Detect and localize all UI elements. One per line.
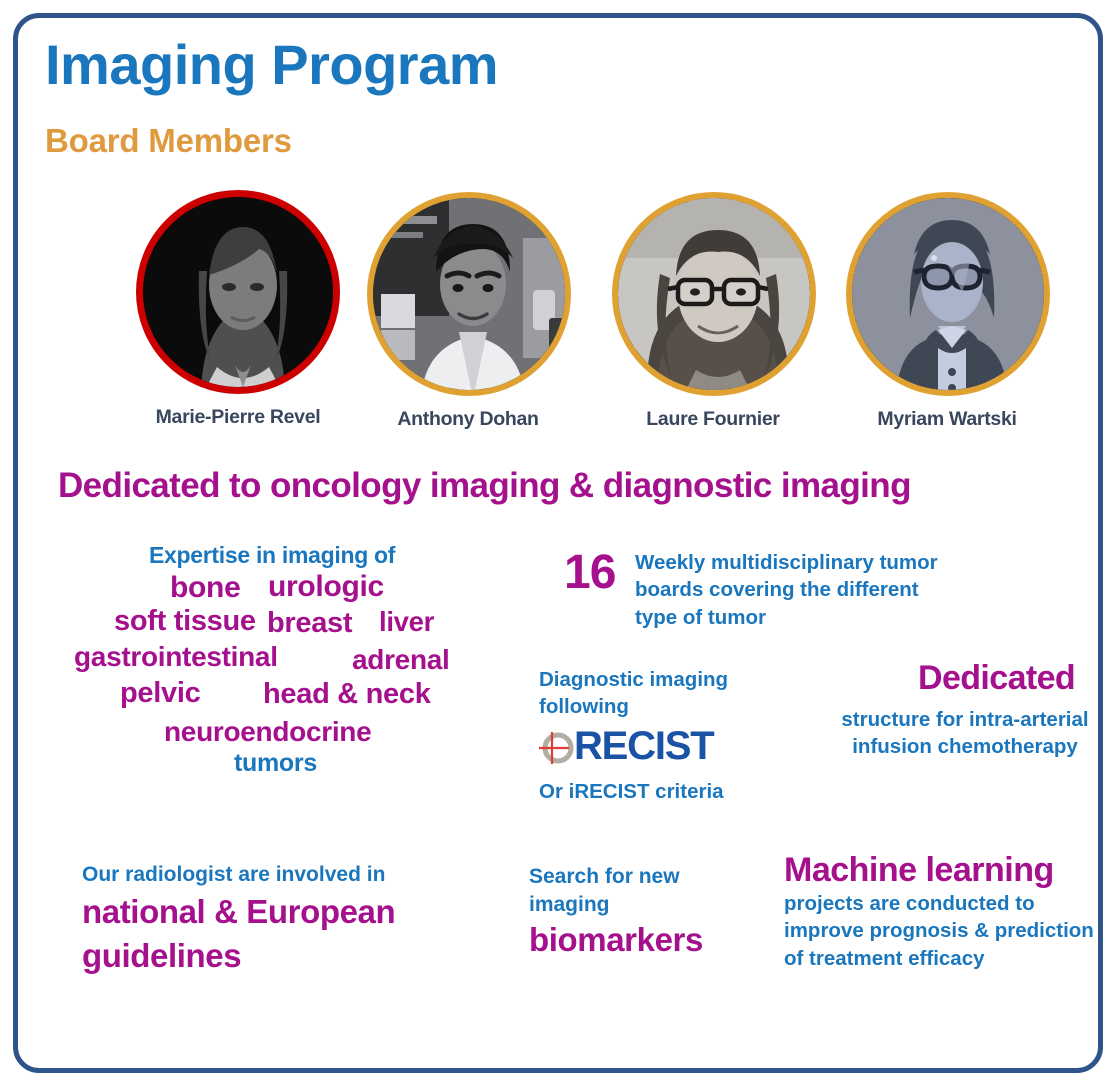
machine-learning-body: projects are conducted to improve progno… [784, 890, 1103, 972]
expertise-token-tumors: tumors [234, 749, 317, 778]
photo-woman-glasses [618, 198, 810, 390]
recist-crosshair-circle-icon [536, 726, 578, 768]
recist-wordmark: RECIST [574, 724, 713, 769]
board-member-name: Anthony Dohan [367, 408, 569, 431]
board-member-card: Laure Fournier [612, 192, 814, 431]
biomarkers-highlight: biomarkers [529, 921, 703, 959]
poster-frame: Imaging Program Board Members [13, 13, 1103, 1073]
recist-logo: RECIST [536, 724, 713, 769]
photo-man-lab-coat [373, 198, 565, 390]
biomarkers-lead: Search for new imaging [529, 863, 719, 920]
expertise-token-adrenal: adrenal [352, 644, 450, 676]
expertise-token-urologic: urologic [268, 570, 384, 604]
expertise-token-gastrointestinal: gastrointestinal [74, 641, 278, 673]
guidelines-highlight: national & European guidelines [82, 890, 482, 978]
guidelines-lead: Our radiologist are involved in [82, 863, 385, 887]
photo-woman-dark-bg [143, 197, 333, 387]
expertise-token-bone: bone [170, 571, 240, 605]
tagline-banner: Dedicated to oncology imaging & diagnost… [58, 466, 911, 506]
intra-arterial-title: Dedicated [918, 659, 1075, 698]
avatar [136, 190, 340, 394]
board-member-card: Marie-Pierre Revel [136, 190, 340, 429]
avatar-placeholder-woman-glasses [852, 198, 1044, 390]
expertise-token-neuroendocrine: neuroendocrine [164, 716, 371, 748]
intra-arterial-body: structure for intra-arterial infusion ch… [819, 706, 1103, 761]
recist-lead: Diagnostic imaging following [539, 666, 779, 721]
board-member-name: Myriam Wartski [846, 408, 1048, 431]
expertise-token-pelvic: pelvic [120, 677, 200, 710]
board-member-name: Marie-Pierre Revel [136, 406, 340, 429]
page-title: Imaging Program [45, 36, 498, 95]
board-member-card: Anthony Dohan [367, 192, 569, 431]
expertise-token-soft-tissue: soft tissue [114, 605, 256, 638]
expertise-token-breast: breast [267, 607, 352, 640]
recist-footnote: Or iRECIST criteria [539, 780, 724, 804]
board-member-name: Laure Fournier [612, 408, 814, 431]
board-member-card: Myriam Wartski [846, 192, 1048, 431]
expertise-token-liver: liver [379, 606, 434, 638]
machine-learning-title: Machine learning [784, 851, 1054, 890]
tumor-board-count: 16 [564, 545, 615, 600]
tumor-board-description: Weekly multidisciplinary tumor boards co… [635, 549, 955, 631]
expertise-lead: Expertise in imaging of [149, 542, 395, 569]
poster-canvas: Imaging Program Board Members [18, 18, 1098, 1068]
avatar [612, 192, 816, 396]
avatar [846, 192, 1050, 396]
expertise-token-head-and-neck: head & neck [263, 678, 431, 711]
avatar [367, 192, 571, 396]
section-subtitle-board-members: Board Members [45, 122, 292, 160]
